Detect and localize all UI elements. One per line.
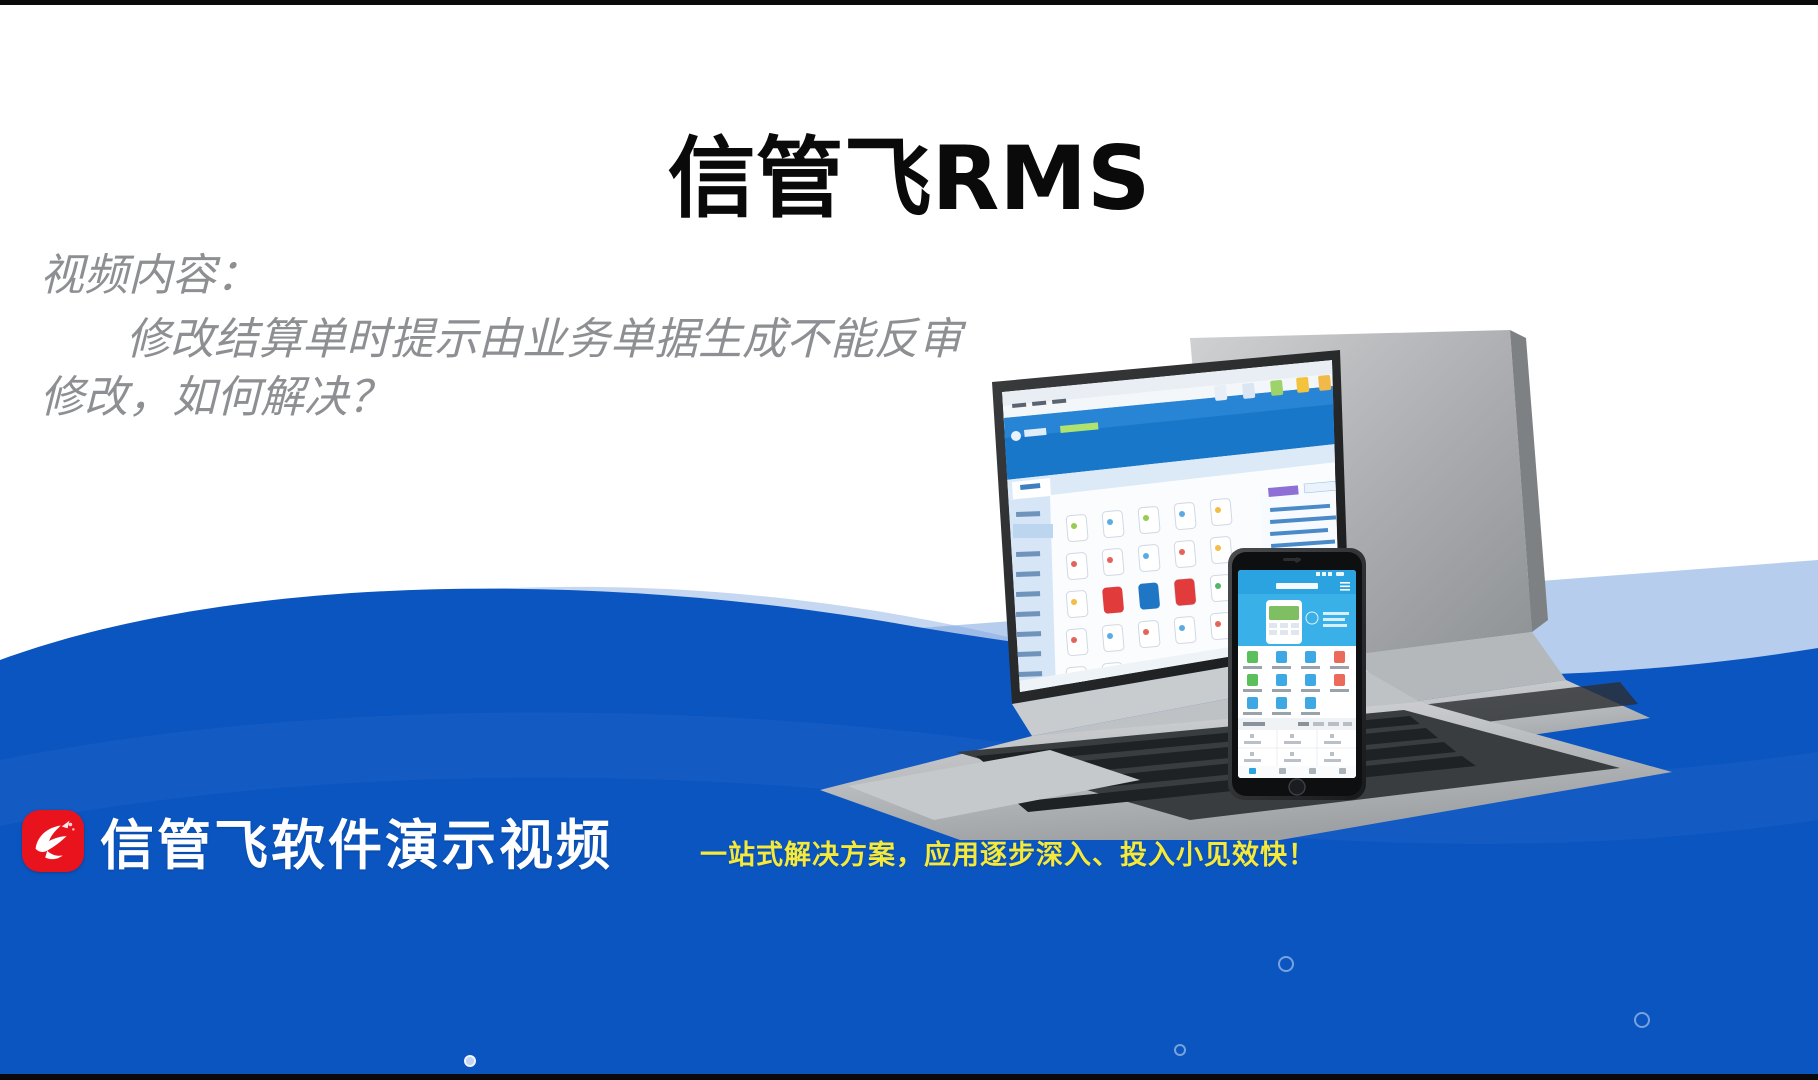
- phone-front: [1228, 548, 1366, 800]
- bottom-edge-bar: [0, 1074, 1818, 1080]
- footer-band: 信管飞软件演示视频 一站式解决方案，应用逐步深入、投入小见效快！: [0, 860, 1818, 1080]
- brand-lockup: 信管飞软件演示视频: [22, 801, 613, 880]
- page-title: 信管飞RMS: [0, 133, 1818, 225]
- video-description: 视频内容： 修改结算单时提示由业务单据生成不能反审修改，如何解决？: [40, 247, 970, 427]
- feiyang-bird-logo-icon: [22, 810, 84, 872]
- hamburger-icon[interactable]: [1340, 582, 1350, 591]
- phone-stat-grid: [1238, 730, 1356, 766]
- video-content-label: 视频内容：: [40, 247, 970, 305]
- brand-tagline: 一站式解决方案，应用逐步深入、投入小见效快！: [700, 833, 1316, 872]
- top-edge-bar: [0, 0, 1818, 5]
- brand-name: 信管飞软件演示视频: [100, 801, 613, 880]
- video-content-question: 修改结算单时提示由业务单据生成不能反审修改，如何解决？: [40, 311, 970, 427]
- presentation-slide: 信管飞RMS 视频内容： 修改结算单时提示由业务单据生成不能反审修改，如何解决？…: [0, 0, 1818, 1080]
